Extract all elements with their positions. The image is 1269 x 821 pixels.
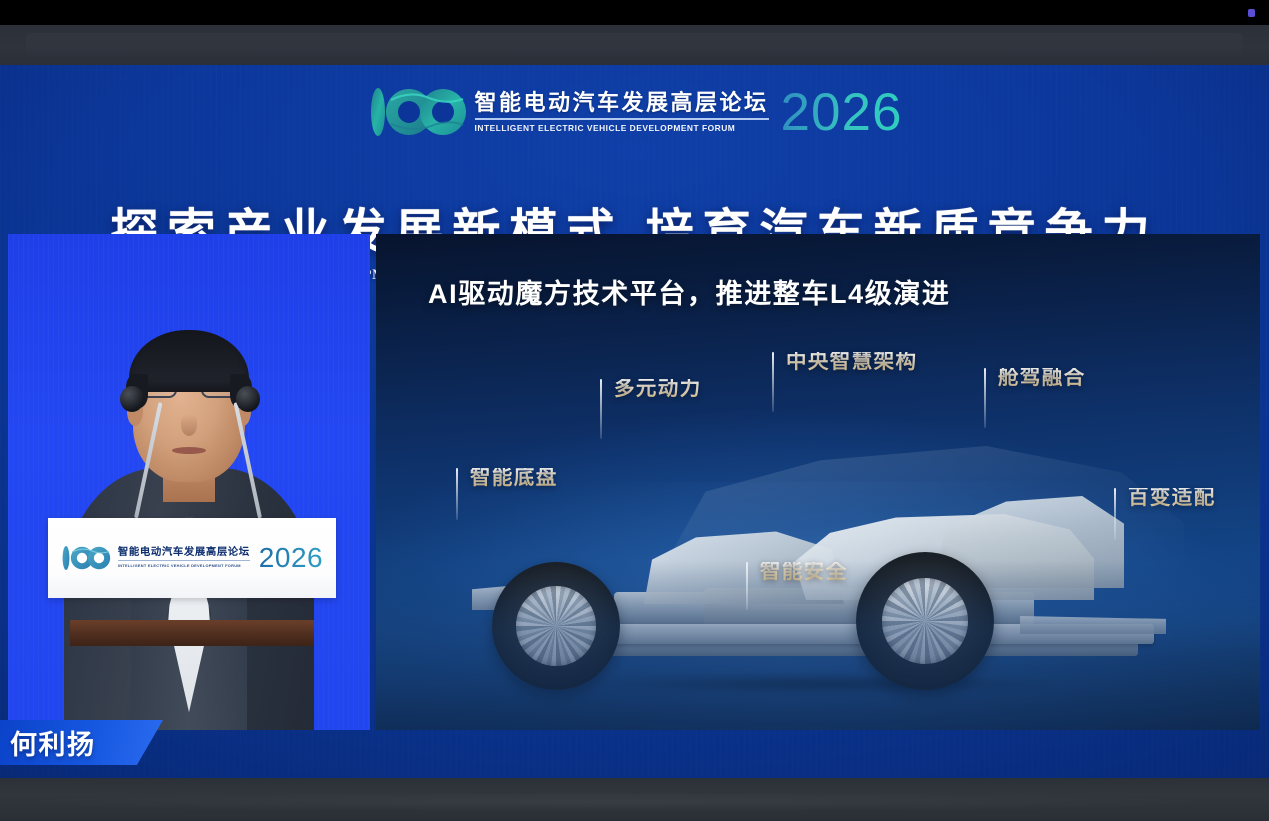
player-bottom-chrome[interactable] <box>0 778 1269 821</box>
callout-leader-line <box>772 352 774 412</box>
callout-label: 舱驾融合 <box>998 368 1086 389</box>
podium-logo-icon <box>61 545 113 571</box>
callout-label: 智能底盘 <box>470 468 558 489</box>
speaker-name-banner: 何利扬 <box>0 720 163 765</box>
callout-leader-line <box>1114 488 1116 540</box>
podium-panel: 智能电动汽车发展高层论坛 INTELLIGENT ELECTRIC VEHICL… <box>48 518 336 598</box>
forum-logo-icon <box>367 86 471 138</box>
recording-indicator-icon <box>1248 9 1255 17</box>
event-year: 2026 <box>781 86 903 139</box>
podium-event-name-en: INTELLIGENT ELECTRIC VEHICLE DEVELOPMENT… <box>118 563 241 568</box>
callout-leader-line <box>984 368 986 428</box>
presentation-slide[interactable]: AI驱动魔方技术平台，推进整车L4级演进 多元动力 <box>376 234 1260 730</box>
callout-smart-safety: 智能安全 <box>746 562 848 610</box>
callout-smart-chassis: 智能底盘 <box>456 468 558 520</box>
brand-divider <box>475 118 769 120</box>
event-name-cn: 智能电动汽车发展高层论坛 <box>475 91 769 114</box>
microphone-icon-left <box>120 386 144 412</box>
callout-label: 百变适配 <box>1128 488 1216 509</box>
microphone-icon-right <box>236 386 260 412</box>
callout-label: 中央智慧架构 <box>786 352 917 373</box>
callout-leader-line <box>456 468 458 520</box>
callout-leader-line <box>600 379 602 439</box>
callout-label: 智能安全 <box>760 562 848 583</box>
livestream-screenshot: 智能电动汽车发展高层论坛 INTELLIGENT ELECTRIC VEHICL… <box>0 0 1269 821</box>
window-title-bar <box>0 0 1269 25</box>
speaker-camera-feed[interactable]: 智能电动汽车发展高层论坛 INTELLIGENT ELECTRIC VEHICL… <box>8 234 370 730</box>
podium-event-name-cn: 智能电动汽车发展高层论坛 <box>118 548 250 559</box>
callout-cockpit-fusion: 舱驾融合 <box>984 368 1086 428</box>
player-top-chrome[interactable] <box>0 25 1269 65</box>
front-wheel <box>856 552 994 690</box>
callout-leader-line <box>746 562 748 610</box>
callout-flexible-adapt: 百变适配 <box>1114 488 1216 540</box>
rear-wheel <box>492 562 620 690</box>
slide-title: AI驱动魔方技术平台，推进整车L4级演进 <box>428 272 951 311</box>
podium-divider <box>118 560 250 561</box>
event-name-en: INTELLIGENT ELECTRIC VEHICLE DEVELOPMENT… <box>475 123 736 133</box>
podium-event-year: 2026 <box>259 544 323 572</box>
speaker-name: 何利扬 <box>10 723 96 762</box>
callout-multi-power: 多元动力 <box>600 379 702 439</box>
callout-central-compute: 中央智慧架构 <box>772 352 917 412</box>
callout-label: 多元动力 <box>614 379 702 400</box>
podium-base <box>70 620 314 646</box>
event-brand-header: 智能电动汽车发展高层论坛 INTELLIGENT ELECTRIC VEHICL… <box>0 81 1269 143</box>
